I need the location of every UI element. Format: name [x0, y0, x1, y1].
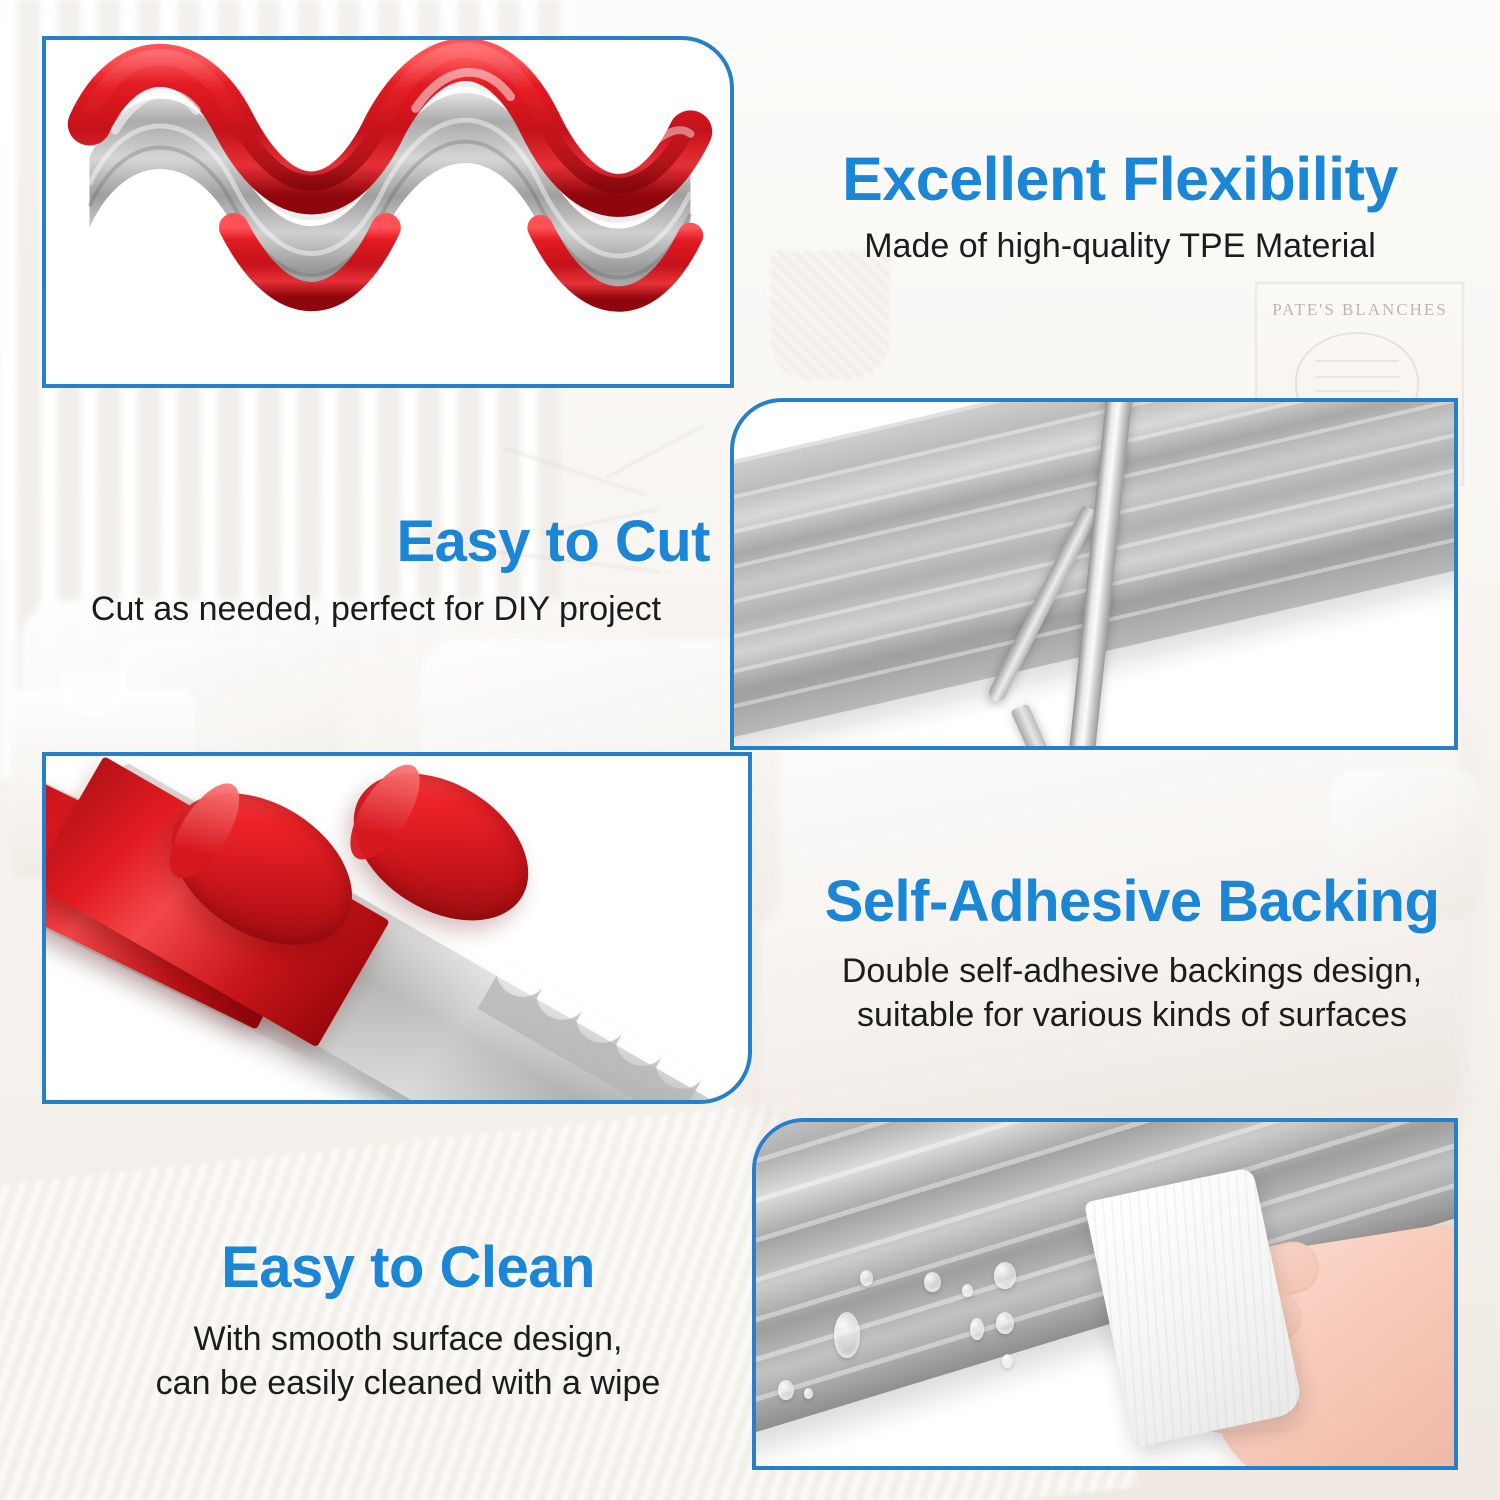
feature-text-clean: Easy to Clean With smooth surface design…: [78, 1238, 738, 1406]
clean-photo: [756, 1122, 1454, 1466]
feature-body-adhesive-line2: suitable for various kinds of surfaces: [782, 993, 1482, 1037]
flexibility-photo: [46, 40, 730, 384]
cut-photo: [734, 402, 1454, 746]
feature-body-adhesive-line1: Double self-adhesive backings design,: [782, 949, 1482, 993]
water-droplet: [804, 1388, 813, 1399]
feature-text-adhesive: Self-Adhesive Backing Double self-adhesi…: [782, 872, 1482, 1038]
feature-body-flexibility: Made of high-quality TPE Material: [760, 224, 1480, 268]
feature-image-flexibility: [42, 36, 734, 388]
feature-image-clean: [752, 1118, 1458, 1470]
background-lamp: [770, 250, 890, 380]
water-droplet: [996, 1312, 1014, 1334]
water-droplet: [1002, 1354, 1013, 1368]
scissors-handle: [1010, 703, 1076, 746]
water-droplet: [834, 1312, 860, 1358]
feature-image-cut: [730, 398, 1458, 750]
feature-body-cut: Cut as needed, perfect for DIY project: [20, 587, 732, 631]
feature-body-clean-line1: With smooth surface design,: [78, 1317, 738, 1361]
feature-headline-adhesive: Self-Adhesive Backing: [782, 872, 1482, 931]
adhesive-photo: [46, 756, 748, 1100]
water-droplet: [962, 1284, 973, 1297]
water-droplet: [860, 1270, 873, 1286]
infographic-canvas: PATE'S BLANCHES: [0, 0, 1500, 1500]
water-droplet: [994, 1262, 1016, 1289]
water-droplet: [924, 1272, 941, 1292]
twisted-strip-illustration: [46, 40, 730, 384]
feature-text-flexibility: Excellent Flexibility Made of high-quali…: [760, 148, 1480, 268]
feature-headline-flexibility: Excellent Flexibility: [760, 148, 1480, 210]
feature-headline-clean: Easy to Clean: [78, 1238, 738, 1297]
feature-image-adhesive: [42, 752, 752, 1104]
feature-text-cut: Easy to Cut Cut as needed, perfect for D…: [20, 512, 732, 631]
background-artwork-caption: PATE'S BLANCHES: [1270, 300, 1450, 320]
feature-headline-cut: Easy to Cut: [20, 512, 732, 571]
water-droplet: [970, 1318, 984, 1340]
feature-body-clean-line2: can be easily cleaned with a wipe: [78, 1361, 738, 1405]
background-coffee-cup: [62, 672, 124, 714]
water-droplet: [778, 1380, 794, 1400]
